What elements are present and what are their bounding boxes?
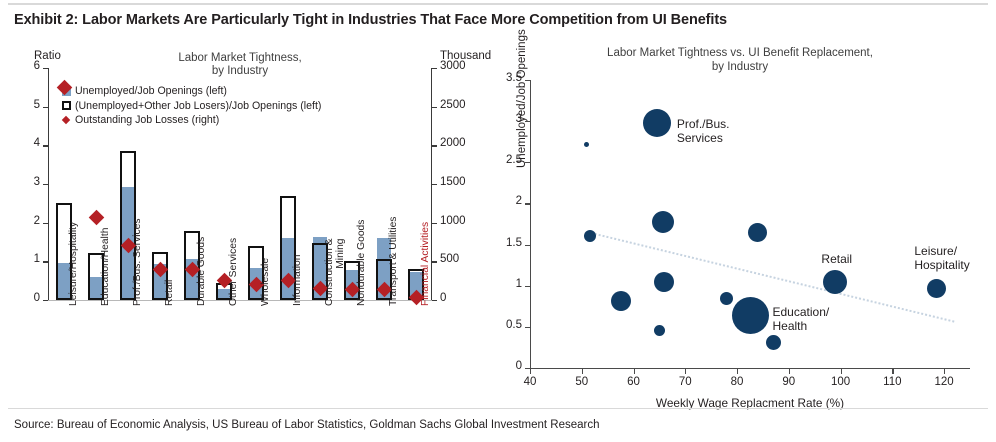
right-chart-panel: Labor Market Tightness vs. UI Benefit Re… (470, 40, 996, 400)
exhibit-page: Exhibit 2: Labor Markets Are Particularl… (0, 0, 996, 442)
right-chart-y-tick-label: 1 (488, 278, 522, 290)
right-chart-x-tick (530, 369, 531, 374)
right-chart-y-tick (525, 80, 530, 81)
right-chart-x-tick (789, 369, 790, 374)
right-chart-y-tick-label: 0.5 (488, 319, 522, 331)
right-chart-y-tick-label: 2 (488, 195, 522, 207)
x-category-label: Retail (164, 280, 175, 306)
scatter-bubble (643, 109, 671, 137)
left-y-tick (43, 68, 48, 69)
bottom-divider (8, 408, 988, 409)
left-chart-title-line1: Labor Market Tightness, (120, 52, 360, 65)
right-chart-x-tick-label: 80 (720, 376, 754, 388)
left-plot-area: 0123456050010001500200025003000Leisure/H… (48, 68, 432, 300)
right-chart-y-tick (525, 327, 530, 328)
left-y-tick (43, 184, 48, 185)
right-chart-x-tick-label: 90 (772, 376, 806, 388)
scatter-bubble (654, 325, 665, 336)
left-y-tick (43, 107, 48, 108)
right-chart-y-tick (525, 121, 530, 122)
left-y-tick-label: 1 (0, 253, 40, 265)
right-y-axis-title: Unemployed/Job Openings (516, 29, 528, 168)
right-chart-y-tick (525, 203, 530, 204)
right-chart-x-tick (737, 369, 738, 374)
x-category-label: Education/Health (100, 228, 111, 306)
x-category-label: Wholesale (260, 258, 271, 306)
scatter-bubble (748, 223, 767, 242)
right-y-tick (432, 261, 437, 262)
scatter-point-label: Leisure/Hospitality (914, 244, 969, 272)
right-chart-x-tick (944, 369, 945, 374)
scatter-bubble (584, 142, 589, 147)
x-category-label: Financial Activities (420, 222, 431, 306)
right-chart-x-tick-label: 110 (875, 376, 909, 388)
right-chart-x-tick (841, 369, 842, 374)
left-y-tick-label: 4 (0, 137, 40, 149)
left-y-tick (43, 223, 48, 224)
scatter-bubble (652, 211, 674, 233)
x-category-label: Durable Goods (196, 237, 207, 306)
right-y-tick (432, 184, 437, 185)
right-chart-x-tick (892, 369, 893, 374)
right-chart-x-tick-label: 60 (617, 376, 651, 388)
trend-line (587, 231, 955, 323)
left-y-tick-label: 5 (0, 99, 40, 111)
right-chart-x-tick-label: 120 (927, 376, 961, 388)
scatter-point-label-line2: Services (677, 131, 730, 145)
right-y-axis (530, 80, 531, 368)
top-divider (8, 3, 988, 5)
scatter-point-label-line2: Health (773, 319, 830, 333)
right-chart-title-line1: Labor Market Tightness vs. UI Benefit Re… (530, 46, 950, 60)
right-chart-y-tick-label: 0 (488, 360, 522, 372)
right-chart-x-tick (634, 369, 635, 374)
right-chart-y-tick (525, 245, 530, 246)
scatter-bubble (584, 230, 596, 242)
scatter-bubble (654, 272, 674, 292)
scatter-bubble (732, 297, 769, 334)
left-y-tick (43, 300, 48, 301)
left-y-tick-label: 6 (0, 60, 40, 72)
right-y-tick (432, 145, 437, 146)
scatter-bubble (766, 335, 781, 350)
scatter-bubble (720, 292, 733, 305)
source-note: Source: Bureau of Economic Analysis, US … (14, 419, 600, 431)
right-chart-x-tick-label: 50 (565, 376, 599, 388)
right-chart-x-tick-label: 40 (513, 376, 547, 388)
right-chart-y-tick-label: 3.5 (488, 72, 522, 84)
left-y-axis (48, 68, 49, 300)
left-chart-panel: Ratio Thousand Labor Market Tightness, b… (0, 40, 470, 400)
scatter-bubble (823, 270, 847, 294)
right-chart-y-tick (525, 162, 530, 163)
left-y-tick-label: 0 (0, 292, 40, 304)
x-category-label: Construction &Mining (324, 238, 346, 306)
page-title: Exhibit 2: Labor Markets Are Particularl… (14, 12, 727, 28)
right-y-tick (432, 223, 437, 224)
right-chart-x-tick (582, 369, 583, 374)
right-chart-title-line2: by Industry (530, 60, 950, 74)
scatter-bubble (611, 291, 631, 311)
right-chart-y-tick (525, 286, 530, 287)
x-category-label: Information (292, 254, 303, 306)
right-y-tick (432, 300, 437, 301)
right-chart-y-tick-label: 3 (488, 113, 522, 125)
left-y-tick (43, 261, 48, 262)
left-y-tick (43, 145, 48, 146)
scatter-point-label: Education/Health (773, 305, 830, 333)
scatter-point-label-line2: Hospitality (914, 258, 969, 272)
x-category-label: Transport & Utilities (388, 217, 399, 306)
scatter-point-label-line1: Prof./Bus. (677, 117, 730, 131)
left-y-tick-label: 2 (0, 215, 40, 227)
left-y-tick-label: 3 (0, 176, 40, 188)
scatter-point-label: Prof./Bus.Services (677, 117, 730, 145)
x-category-label: Other Services (228, 238, 239, 306)
right-y-tick (432, 68, 437, 69)
x-category-label: Nondurable Goods (356, 220, 367, 306)
scatter-point-label-line1: Education/ (773, 305, 830, 319)
right-chart-y-tick-label: 1.5 (488, 237, 522, 249)
right-chart-x-tick-label: 100 (824, 376, 858, 388)
right-chart-title: Labor Market Tightness vs. UI Benefit Re… (530, 46, 950, 74)
scatter-point-label-line1: Retail (821, 252, 852, 266)
x-category-label: Prof./Bus. Services (132, 218, 143, 306)
right-chart-y-tick-label: 2.5 (488, 154, 522, 166)
scatter-point-label: Retail (821, 252, 852, 266)
x-category-label: Leisure/Hospitality (68, 222, 79, 306)
scatter-point-label-line1: Leisure/ (914, 244, 969, 258)
right-x-axis (530, 368, 970, 369)
scatter-bubble (927, 279, 946, 298)
right-plot-area: Unemployed/Job Openings Weekly Wage Repl… (530, 80, 970, 368)
right-chart-x-tick (685, 369, 686, 374)
right-chart-x-tick-label: 70 (668, 376, 702, 388)
right-y-tick (432, 107, 437, 108)
